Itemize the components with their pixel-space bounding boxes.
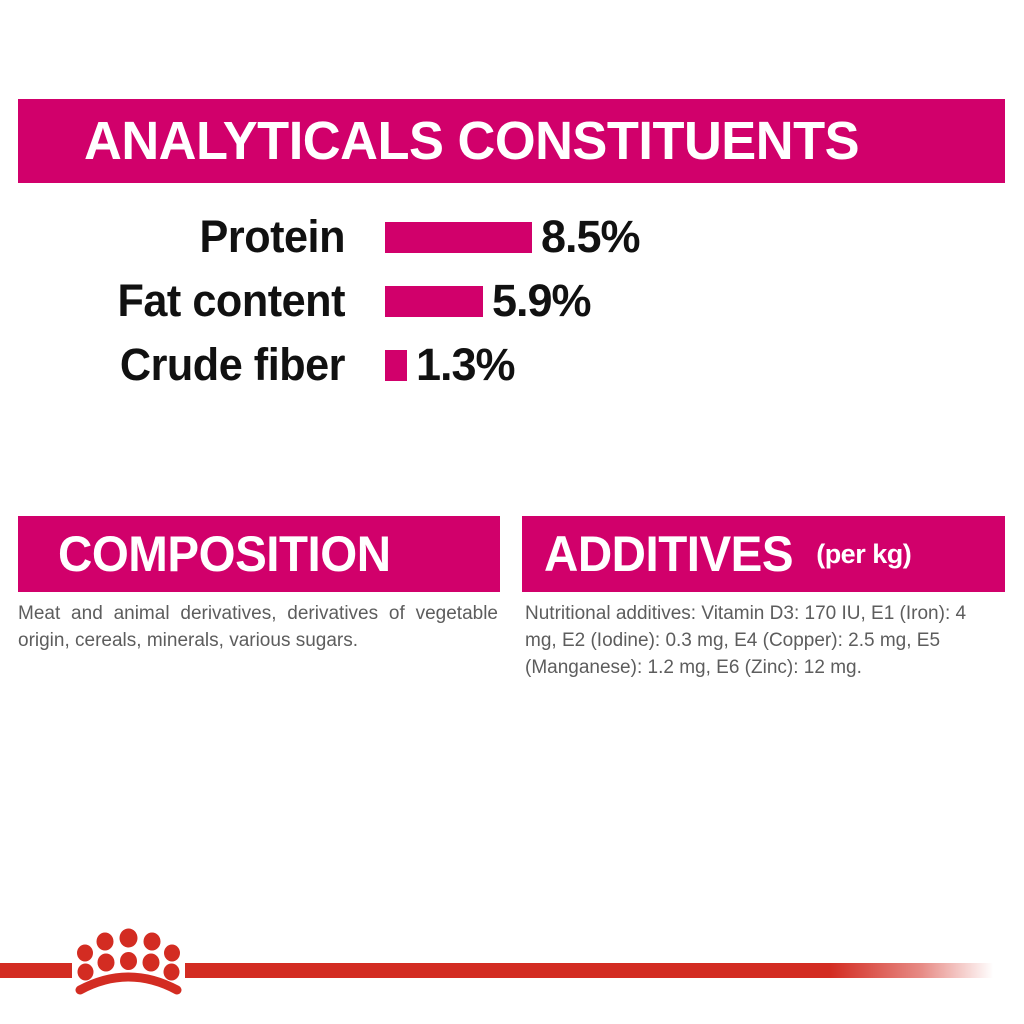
analyticals-constituents-title: ANALYTICALS CONSTITUENTS <box>84 114 859 168</box>
analyticals-value-protein: 8.5% <box>541 211 640 263</box>
analyticals-bar-wrap-fat-content: 5.9% <box>385 275 591 327</box>
additives-title: ADDITIVES <box>544 529 793 579</box>
analyticals-bar-fat-content <box>385 286 483 317</box>
analyticals-row-protein: Protein 8.5% <box>0 205 1024 269</box>
composition-title: COMPOSITION <box>58 529 391 579</box>
analyticals-bar-crude-fiber <box>385 350 407 381</box>
analyticals-bar-wrap-protein: 8.5% <box>385 211 640 263</box>
analyticals-bar-wrap-crude-fiber: 1.3% <box>385 339 515 391</box>
composition-panel: COMPOSITION Meat and animal derivatives,… <box>18 516 500 655</box>
analyticals-label-fat-content: Fat content <box>14 275 345 327</box>
analyticals-value-crude-fiber: 1.3% <box>416 339 515 391</box>
composition-banner: COMPOSITION <box>18 516 500 592</box>
analyticals-value-fat-content: 5.9% <box>492 275 591 327</box>
analyticals-bar-protein <box>385 222 532 253</box>
additives-banner: ADDITIVES (per kg) <box>522 516 1005 592</box>
analyticals-constituents-banner: ANALYTICALS CONSTITUENTS <box>18 99 1005 183</box>
royal-canin-crown-icon <box>72 928 185 998</box>
additives-subtitle: (per kg) <box>816 541 911 568</box>
analyticals-row-fat-content: Fat content 5.9% <box>0 269 1024 333</box>
composition-body-text: Meat and animal derivatives, derivatives… <box>18 601 500 655</box>
analyticals-label-protein: Protein <box>14 211 345 263</box>
additives-panel: ADDITIVES (per kg) Nutritional additives… <box>522 516 1005 682</box>
analyticals-label-crude-fiber: Crude fiber <box>14 339 345 391</box>
additives-body-text: Nutritional additives: Vitamin D3: 170 I… <box>522 601 1005 682</box>
analyticals-bar-chart: Protein 8.5% Fat content 5.9% Crude fibe… <box>0 205 1024 397</box>
analyticals-row-crude-fiber: Crude fiber 1.3% <box>0 333 1024 397</box>
